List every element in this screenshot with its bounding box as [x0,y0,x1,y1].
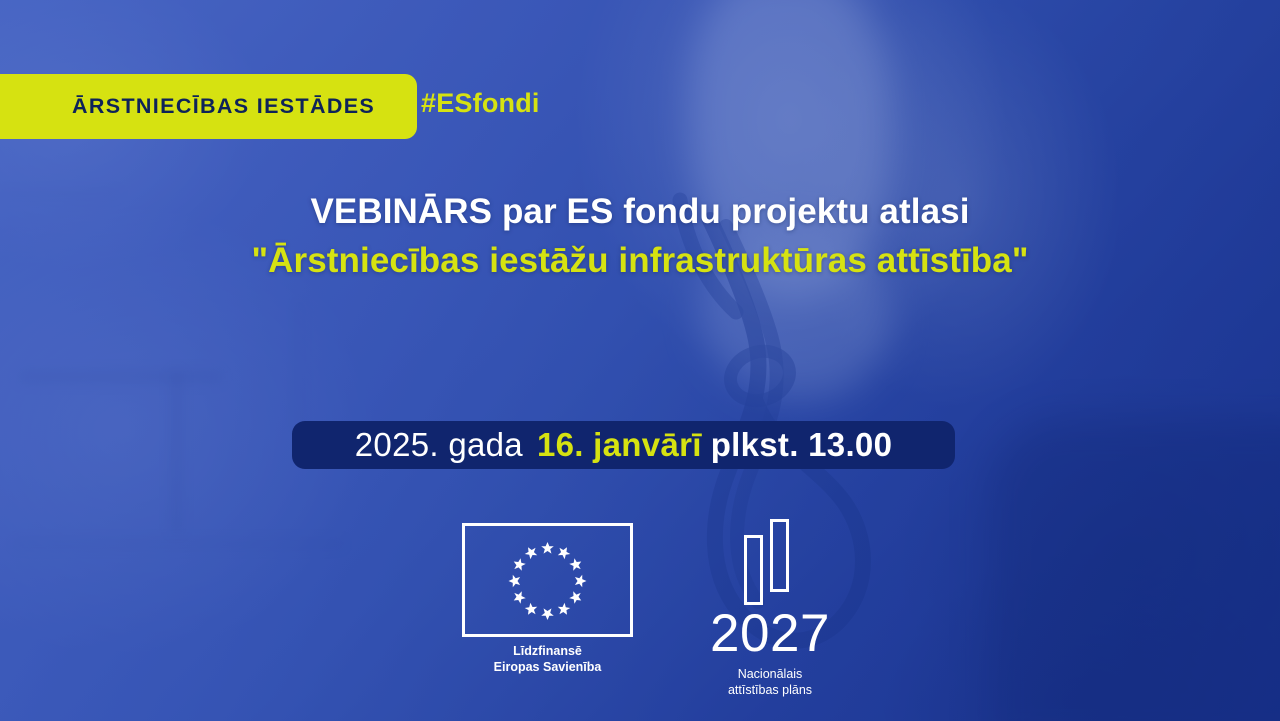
category-badge-label: ĀRSTNIECĪBAS IESTĀDES [72,94,375,119]
date-prefix: 2025. gada [355,426,523,464]
nap-logo-caption: Nacionālais attīstības plāns [690,666,850,699]
nap-bar-left [744,535,763,605]
headline-line-2: "Ārstniecības iestāžu infrastruktūras at… [0,241,1280,281]
webinar-announcement-poster: ĀRSTNIECĪBAS IESTĀDES #ESfondi VEBINĀRS … [0,0,1280,721]
hashtag-label: #ESfondi [421,88,540,119]
date-time-suffix: plkst. 13.00 [711,426,893,464]
nap-bar-right [770,519,789,592]
nap-caption-line-2: attīstības plāns [690,682,850,698]
nap-year-label: 2027 [690,607,850,660]
headline: VEBINĀRS par ES fondu projektu atlasi "Ā… [0,192,1280,281]
headline-line-1: VEBINĀRS par ES fondu projektu atlasi [0,192,1280,232]
eu-caption-line-1: Līdzfinansē [462,643,633,659]
eu-stars-icon [465,526,630,636]
eu-caption-line-2: Eiropas Savienība [462,659,633,675]
eu-flag-icon [462,523,633,637]
nap-caption-line-1: Nacionālais [690,666,850,682]
nap-bars-icon [690,513,850,605]
date-highlight: 16. janvārī [537,426,702,464]
category-badge: ĀRSTNIECĪBAS IESTĀDES [0,74,417,139]
eu-logo-caption: Līdzfinansē Eiropas Savienība [462,643,633,675]
eu-cofunding-logo: Līdzfinansē Eiropas Savienība [462,523,633,675]
nap-2027-logo: 2027 Nacionālais attīstības plāns [690,513,850,699]
date-time-banner: 2025. gada 16. janvārī plkst. 13.00 [292,421,955,469]
